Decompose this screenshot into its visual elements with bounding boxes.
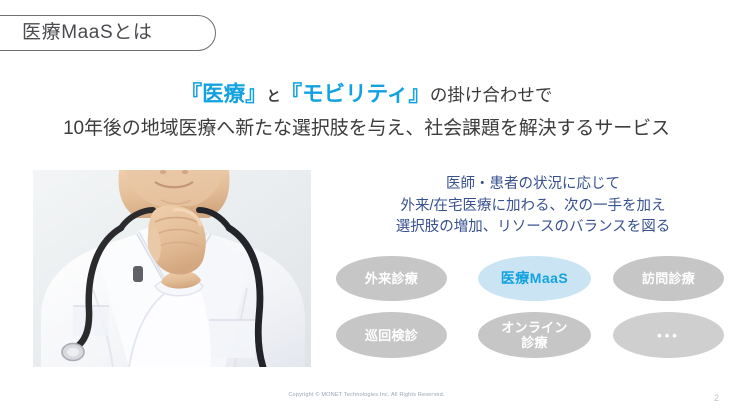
- doctor-thinking-photo: [33, 170, 311, 367]
- page-title: 医療MaaSとは: [22, 17, 222, 49]
- option-medical-maas[interactable]: 医療MaaS: [478, 256, 591, 301]
- option-label: 医療MaaS: [501, 271, 569, 286]
- description-line-3: 選択肢の増加、リソースのバランスを図る: [333, 217, 733, 239]
- option-more-ellipsis[interactable]: •••: [613, 312, 724, 358]
- headline-line-1: 『医療』と『モビリティ』の掛け合わせで: [0, 80, 733, 110]
- headline-bracket-open-2: 『: [281, 82, 303, 106]
- option-label-multiline: オンライン 診療: [501, 320, 568, 350]
- description-line-1: 医師・患者の状況に応じて: [333, 174, 733, 196]
- headline-bracket-close-1: 』: [245, 82, 267, 106]
- option-outpatient-care[interactable]: 外来診療: [336, 256, 447, 301]
- slide-canvas: 医療MaaSとは 『医療』と『モビリティ』の掛け合わせで 10年後の地域医療へ新…: [0, 0, 733, 413]
- headline-highlight-medical: 医療: [202, 82, 245, 106]
- doctor-photo-illustration: [33, 170, 311, 367]
- headline-conjunction: と: [267, 88, 281, 104]
- description-block: 医師・患者の状況に応じて 外来/在宅医療に加わる、次の一手を加え 選択肢の増加、…: [333, 174, 733, 239]
- option-mobile-checkup[interactable]: 巡回検診: [336, 312, 447, 358]
- headline-bracket-open-1: 『: [181, 82, 203, 106]
- option-label-line-2: 診療: [521, 335, 548, 350]
- copyright-footer: Copyright © MONET Technologies Inc. All …: [0, 392, 733, 398]
- option-home-visit-care[interactable]: 訪問診療: [613, 256, 724, 301]
- page-number: 2: [714, 393, 719, 403]
- ellipsis-icon: •••: [657, 328, 680, 343]
- option-label-line-1: オンライン: [501, 320, 568, 335]
- option-label: 訪問診療: [642, 271, 695, 286]
- headline-tail: の掛け合わせで: [430, 85, 553, 105]
- headline-highlight-mobility: モビリティ: [302, 82, 408, 106]
- headline-line-2: 10年後の地域医療へ新たな選択肢を与え、社会課題を解決するサービス: [0, 116, 733, 142]
- headline-bracket-close-2: 』: [408, 82, 430, 106]
- headline-block: 『医療』と『モビリティ』の掛け合わせで 10年後の地域医療へ新たな選択肢を与え、…: [0, 80, 733, 142]
- option-online-care[interactable]: オンライン 診療: [478, 312, 591, 358]
- description-line-2: 外来/在宅医療に加わる、次の一手を加え: [333, 196, 733, 218]
- option-label: 外来診療: [365, 271, 418, 286]
- option-label: 巡回検診: [365, 328, 418, 343]
